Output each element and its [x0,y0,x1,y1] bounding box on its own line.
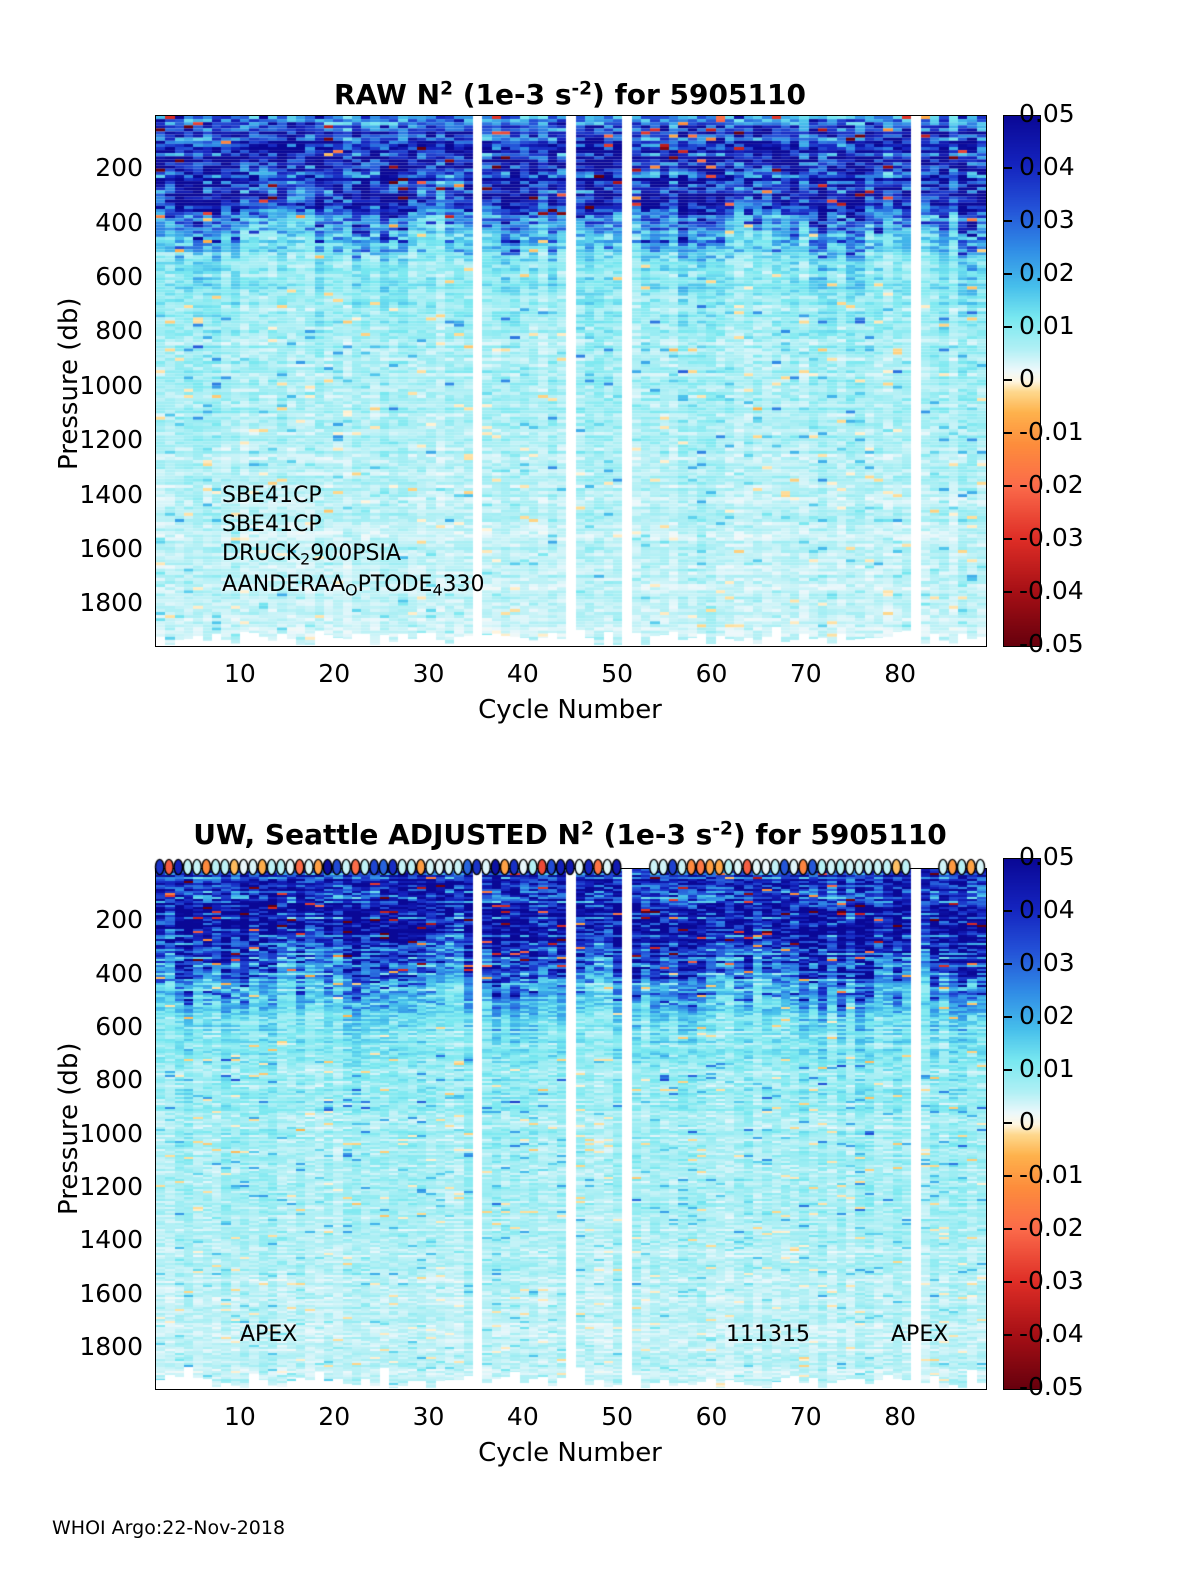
colorbar-tick-label: 0.02 [1019,1001,1075,1030]
colorbar-tick-mark [1003,591,1012,593]
x-tick-label: 80 [865,1402,935,1431]
colorbar-tick-label: 0.03 [1019,948,1075,977]
x-tick-label: 20 [299,1402,369,1431]
x-tick-label: 60 [676,659,746,688]
colorbar-tick-label: 0.04 [1019,895,1075,924]
sensor-ctd-2: SBE41CP [222,512,322,537]
colorbar-tick-mark [1003,432,1012,434]
y-tick-label: 800 [55,1065,143,1094]
sensor-pressure: DRUCK2900PSIA [222,541,401,568]
y-tick-label: 1600 [55,534,143,563]
y-tick-label: 600 [55,1012,143,1041]
y-tick-label: 800 [55,316,143,345]
colorbar-tick-mark [1003,1334,1012,1336]
colorbar-tick-mark [1003,220,1012,222]
colorbar-tick-label: -0.04 [1019,1319,1084,1348]
colorbar-tick-label: 0.01 [1019,1054,1075,1083]
y-tick-label: 1200 [55,1172,143,1201]
plot-title-raw: RAW N2 (1e-3 s-2) for 5905110 [155,78,985,111]
colorbar-tick-mark [1003,1069,1012,1071]
x-tick-label: 20 [299,659,369,688]
colorbar-tick-mark [1003,1281,1012,1283]
x-tick-label: 50 [582,659,652,688]
colorbar-tick-label: 0.05 [1019,842,1075,871]
colorbar-tick-label: -0.01 [1019,1160,1084,1189]
colorbar-tick-label: 0 [1019,1107,1035,1136]
x-tick-label: 10 [205,1402,275,1431]
colorbar-tick-label: -0.05 [1019,1372,1084,1401]
x-tick-label: 70 [771,1402,841,1431]
colorbar-tick-label: -0.05 [1019,629,1084,658]
colorbar-tick-label: 0.05 [1019,99,1075,128]
colorbar-tick-mark [1003,167,1012,169]
y-tick-label: 1400 [55,1225,143,1254]
plot-title-adjusted: UW, Seattle ADJUSTED N2 (1e-3 s-2) for 5… [155,818,985,851]
colorbar-tick-label: 0.03 [1019,205,1075,234]
y-tick-label: 200 [55,153,143,182]
x-tick-label: 30 [394,1402,464,1431]
colorbar-tick-mark [1003,1016,1012,1018]
y-tick-label: 200 [55,905,143,934]
colorbar-tick-label: -0.02 [1019,1213,1084,1242]
y-tick-label: 1400 [55,480,143,509]
x-tick-label: 30 [394,659,464,688]
wmo-serial: 111315 [726,1322,810,1347]
x-tick-label: 40 [488,659,558,688]
x-tick-label: 50 [582,1402,652,1431]
y-tick-label: 400 [55,208,143,237]
colorbar-tick-mark [1003,273,1012,275]
x-tick-label: 10 [205,659,275,688]
y-tick-label: 1800 [55,1332,143,1361]
colorbar-tick-label: -0.01 [1019,417,1084,446]
colorbar-tick-label: 0.01 [1019,311,1075,340]
y-tick-label: 600 [55,262,143,291]
y-tick-label: 1600 [55,1279,143,1308]
x-tick-label: 80 [865,659,935,688]
y-tick-label: 1000 [55,1119,143,1148]
y-tick-label: 1800 [55,588,143,617]
x-tick-label: 40 [488,1402,558,1431]
y-tick-label: 400 [55,959,143,988]
colorbar-tick-mark [1003,1122,1012,1124]
colorbar-tick-label: -0.03 [1019,523,1084,552]
colorbar-tick-mark [1003,1228,1012,1230]
colorbar-tick-label: -0.03 [1019,1266,1084,1295]
sensor-oxygen: AANDERAAOPTODE4330 [222,572,485,599]
sensor-ctd-1: SBE41CP [222,483,322,508]
colorbar-tick-mark [1003,1175,1012,1177]
colorbar-tick-mark [1003,963,1012,965]
y-tick-label: 1000 [55,371,143,400]
x-axis-label-raw: Cycle Number [155,695,985,725]
heatmap-adjusted[interactable] [155,868,987,1390]
colorbar-tick-label: 0.04 [1019,152,1075,181]
footer-credit: WHOI Argo:22-Nov-2018 [52,1517,285,1539]
colorbar-tick-mark [1003,485,1012,487]
x-tick-label: 60 [676,1402,746,1431]
colorbar-tick-label: 0 [1019,364,1035,393]
colorbar-tick-mark [1003,326,1012,328]
float-type-right: APEX [891,1322,948,1347]
colorbar-tick-label: -0.02 [1019,470,1084,499]
colorbar-tick-mark [1003,379,1012,381]
colorbar-tick-mark [1003,910,1012,912]
colorbar-tick-label: -0.04 [1019,576,1084,605]
colorbar-tick-label: 0.02 [1019,258,1075,287]
x-axis-label-adjusted: Cycle Number [155,1438,985,1468]
x-tick-label: 70 [771,659,841,688]
y-tick-label: 1200 [55,425,143,454]
float-type-left: APEX [240,1322,297,1347]
colorbar-tick-mark [1003,538,1012,540]
